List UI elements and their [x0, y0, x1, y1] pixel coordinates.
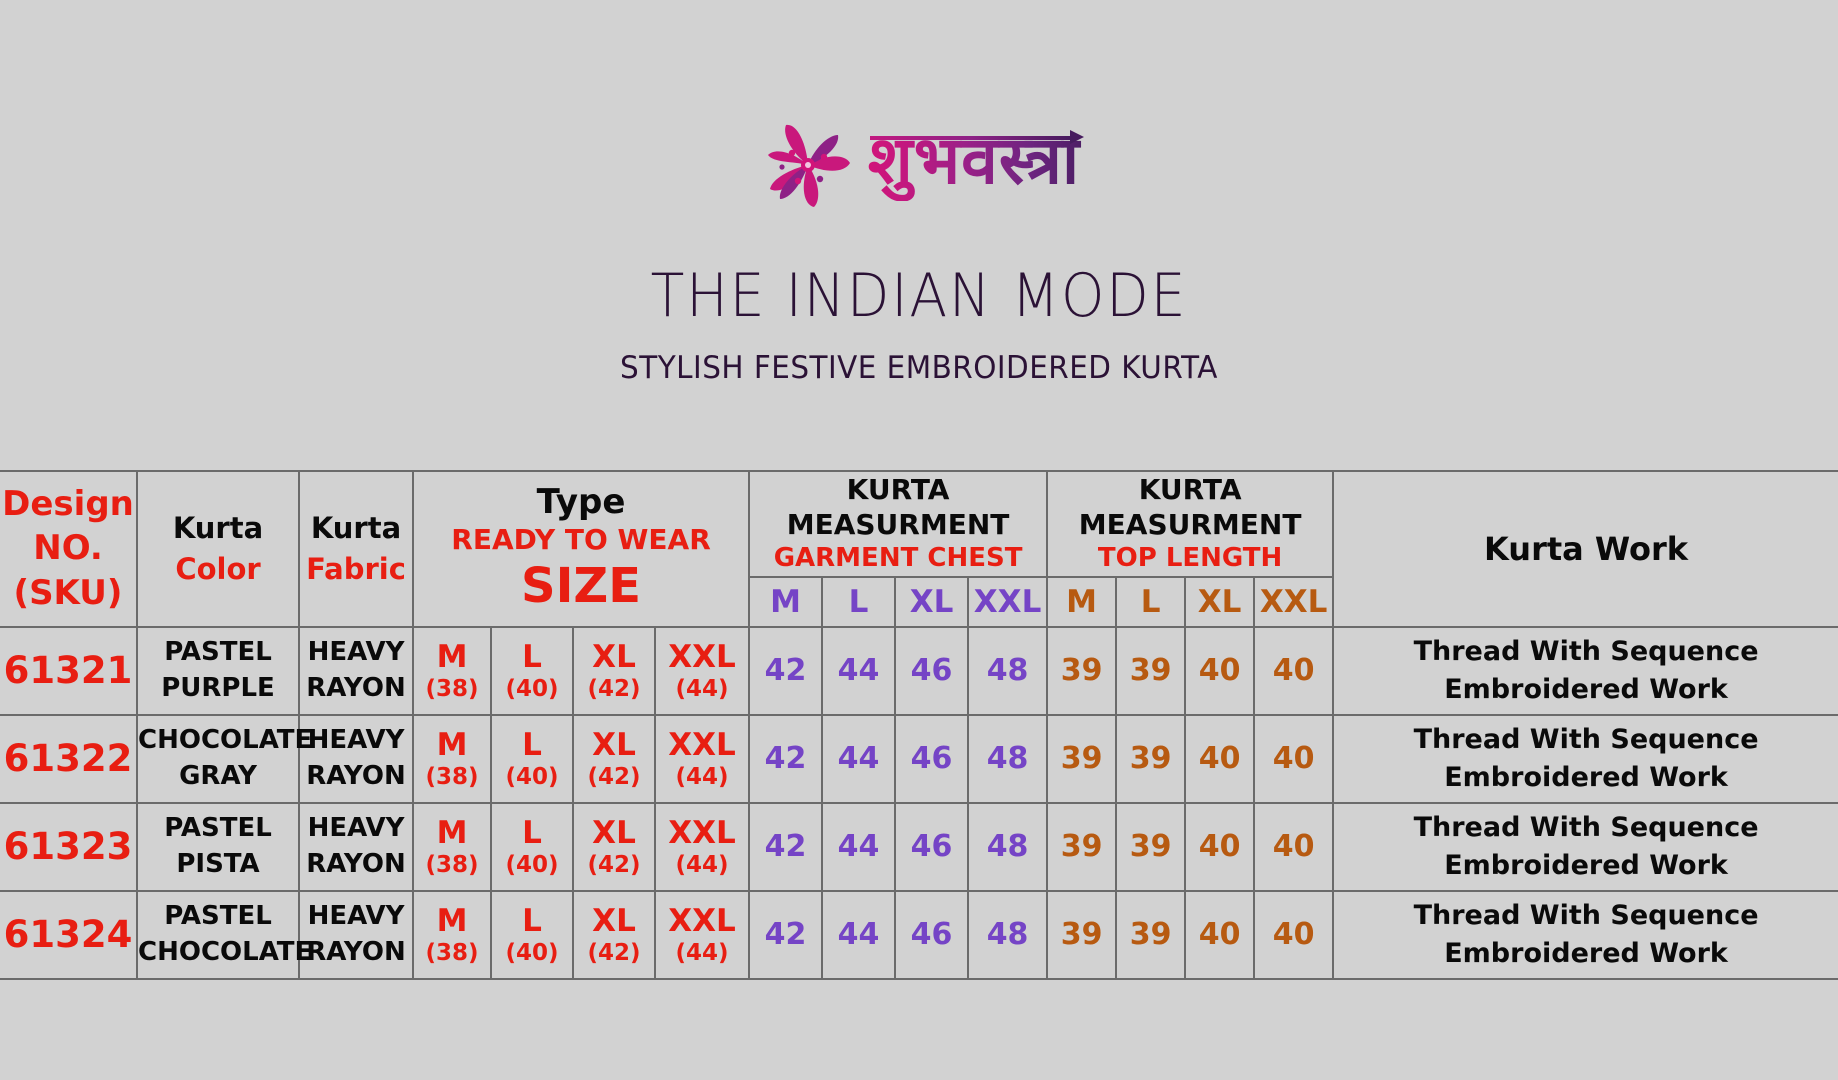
size-header-chest-l: L: [822, 577, 895, 627]
kurta-fabric-line1: Kurta: [300, 508, 412, 549]
cell-kurta-fabric: HEAVYRAYON: [299, 715, 413, 803]
color-line2: GRAY: [138, 759, 298, 795]
page-subtitle: STYLISH FESTIVE EMBROIDERED KURTA: [46, 350, 1792, 386]
col-header-kurta-fabric: Kurta Fabric: [299, 471, 413, 627]
brand-header: शुभवस्त्रा: [0, 0, 1838, 300]
table-row: 61321PASTELPURPLEHEAVYRAYONM(38)L(40)XL(…: [0, 627, 1838, 715]
size-number: (38): [414, 852, 490, 879]
size-label: M: [414, 903, 490, 940]
size-number: (44): [656, 764, 748, 791]
cell-chest-xxl: 48: [968, 891, 1047, 979]
size-number: (42): [574, 940, 654, 967]
cell-length-xl: 40: [1185, 891, 1254, 979]
cell-size-l: L(40): [491, 891, 573, 979]
size-number: (40): [492, 940, 572, 967]
cell-kurta-color: CHOCOLATEGRAY: [137, 715, 299, 803]
col-header-type: Type READY TO WEAR SIZE: [413, 471, 749, 627]
cell-size-l: L(40): [491, 803, 573, 891]
fabric-line2: RAYON: [300, 671, 412, 707]
color-line1: CHOCOLATE: [138, 723, 298, 759]
fabric-line2: RAYON: [300, 847, 412, 883]
table-header-row-main: Design NO. (SKU) Kurta Color Kurta Fabri…: [0, 471, 1838, 577]
cell-size-xxl: XXL(44): [655, 715, 749, 803]
size-label: XL: [574, 727, 654, 764]
cell-kurta-work: Thread With SequenceEmbroidered Work: [1333, 627, 1838, 715]
size-header-length-m: M: [1047, 577, 1116, 627]
cell-chest-xl: 46: [895, 803, 968, 891]
size-header-length-xxl: XXL: [1254, 577, 1333, 627]
cell-chest-m: 42: [749, 715, 822, 803]
cell-kurta-fabric: HEAVYRAYON: [299, 803, 413, 891]
cell-length-m: 39: [1047, 715, 1116, 803]
color-line2: CHOCOLATE: [138, 935, 298, 971]
cell-chest-l: 44: [822, 715, 895, 803]
cell-kurta-fabric: HEAVYRAYON: [299, 891, 413, 979]
cell-size-l: L(40): [491, 627, 573, 715]
cell-length-m: 39: [1047, 803, 1116, 891]
cell-chest-l: 44: [822, 891, 895, 979]
col-header-garment-chest: KURTA MEASURMENT GARMENT CHEST: [749, 471, 1047, 577]
cell-size-xl: XL(42): [573, 891, 655, 979]
size-label: XXL: [656, 639, 748, 676]
cell-size-xl: XL(42): [573, 627, 655, 715]
cell-length-xl: 40: [1185, 715, 1254, 803]
fabric-line1: HEAVY: [300, 635, 412, 671]
fabric-line2: RAYON: [300, 759, 412, 795]
size-label: L: [492, 815, 572, 852]
kurta-color-line1: Kurta: [138, 508, 298, 549]
size-label: XXL: [656, 815, 748, 852]
size-label: XL: [574, 815, 654, 852]
cell-sku: 61322: [0, 715, 137, 803]
cell-chest-xxl: 48: [968, 627, 1047, 715]
table-row: 61323PASTELPISTAHEAVYRAYONM(38)L(40)XL(4…: [0, 803, 1838, 891]
size-label: XL: [574, 639, 654, 676]
cell-chest-xl: 46: [895, 715, 968, 803]
size-header-length-xl: XL: [1185, 577, 1254, 627]
size-label: L: [492, 727, 572, 764]
cell-chest-xl: 46: [895, 891, 968, 979]
cell-size-xxl: XXL(44): [655, 627, 749, 715]
cell-kurta-fabric: HEAVYRAYON: [299, 627, 413, 715]
cell-chest-l: 44: [822, 803, 895, 891]
brand-logo-wordmark: शुभवस्त्रा: [866, 129, 1086, 201]
cell-length-l: 39: [1116, 715, 1185, 803]
cell-length-xxl: 40: [1254, 891, 1333, 979]
fabric-line1: HEAVY: [300, 899, 412, 935]
design-no-line1: Design: [0, 482, 136, 527]
table-row: 61322CHOCOLATEGRAYHEAVYRAYONM(38)L(40)XL…: [0, 715, 1838, 803]
col-header-top-length: KURTA MEASURMENT TOP LENGTH: [1047, 471, 1333, 577]
chest-line1: KURTA: [750, 472, 1046, 507]
cell-size-m: M(38): [413, 627, 491, 715]
cell-size-xxl: XXL(44): [655, 803, 749, 891]
cell-sku: 61324: [0, 891, 137, 979]
cell-kurta-color: PASTELCHOCOLATE: [137, 891, 299, 979]
length-line3: TOP LENGTH: [1048, 542, 1332, 576]
cell-length-xxl: 40: [1254, 803, 1333, 891]
size-label: XXL: [656, 727, 748, 764]
cell-size-m: M(38): [413, 803, 491, 891]
cell-size-xxl: XXL(44): [655, 891, 749, 979]
brand-logo: शुभवस्त्रा: [752, 119, 1086, 211]
cell-size-m: M(38): [413, 715, 491, 803]
type-line2: READY TO WEAR: [414, 521, 748, 559]
cell-length-m: 39: [1047, 891, 1116, 979]
size-number: (40): [492, 676, 572, 703]
size-number: (44): [656, 852, 748, 879]
type-line3: SIZE: [414, 559, 748, 614]
size-label: L: [492, 639, 572, 676]
col-header-design-no: Design NO. (SKU): [0, 471, 137, 627]
work-line1: Thread With Sequence: [1334, 633, 1838, 671]
title-block: THE INDIAN MODE STYLISH FESTIVE EMBROIDE…: [0, 266, 1838, 386]
cell-kurta-work: Thread With SequenceEmbroidered Work: [1333, 715, 1838, 803]
cell-size-xl: XL(42): [573, 715, 655, 803]
size-header-chest-m: M: [749, 577, 822, 627]
col-header-kurta-color: Kurta Color: [137, 471, 299, 627]
color-line1: PASTEL: [138, 811, 298, 847]
cell-length-l: 39: [1116, 627, 1185, 715]
cell-size-xl: XL(42): [573, 803, 655, 891]
size-label: M: [414, 815, 490, 852]
work-line1: Thread With Sequence: [1334, 897, 1838, 935]
size-header-length-l: L: [1116, 577, 1185, 627]
cell-kurta-work: Thread With SequenceEmbroidered Work: [1333, 803, 1838, 891]
fabric-line2: RAYON: [300, 935, 412, 971]
cell-sku: 61321: [0, 627, 137, 715]
size-number: (44): [656, 940, 748, 967]
size-number: (40): [492, 852, 572, 879]
size-number: (42): [574, 852, 654, 879]
cell-size-m: M(38): [413, 891, 491, 979]
color-line1: PASTEL: [138, 635, 298, 671]
cell-size-l: L(40): [491, 715, 573, 803]
size-label: L: [492, 903, 572, 940]
cell-length-xxl: 40: [1254, 715, 1333, 803]
size-label: XL: [574, 903, 654, 940]
fabric-line1: HEAVY: [300, 811, 412, 847]
table-body: 61321PASTELPURPLEHEAVYRAYONM(38)L(40)XL(…: [0, 627, 1838, 979]
size-header-chest-xl: XL: [895, 577, 968, 627]
cell-length-l: 39: [1116, 891, 1185, 979]
type-line1: Type: [414, 484, 748, 521]
cell-sku: 61323: [0, 803, 137, 891]
cell-chest-m: 42: [749, 803, 822, 891]
cell-chest-xl: 46: [895, 627, 968, 715]
size-label: M: [414, 727, 490, 764]
table-row: 61324PASTELCHOCOLATEHEAVYRAYONM(38)L(40)…: [0, 891, 1838, 979]
color-line2: PISTA: [138, 847, 298, 883]
work-line2: Embroidered Work: [1334, 671, 1838, 709]
cell-length-xxl: 40: [1254, 627, 1333, 715]
fabric-line1: HEAVY: [300, 723, 412, 759]
chest-line2: MEASURMENT: [750, 507, 1046, 542]
work-line1: Thread With Sequence: [1334, 721, 1838, 759]
cell-chest-xxl: 48: [968, 803, 1047, 891]
work-line1: Thread With Sequence: [1334, 809, 1838, 847]
length-line2: MEASURMENT: [1048, 507, 1332, 542]
design-no-line3: (SKU): [0, 571, 136, 616]
cell-length-xl: 40: [1185, 627, 1254, 715]
size-label: M: [414, 639, 490, 676]
color-line2: PURPLE: [138, 671, 298, 707]
kurta-fabric-line2: Fabric: [300, 549, 412, 590]
color-line1: PASTEL: [138, 899, 298, 935]
size-number: (42): [574, 676, 654, 703]
size-number: (38): [414, 940, 490, 967]
size-number: (42): [574, 764, 654, 791]
page-title: THE INDIAN MODE: [74, 266, 1765, 326]
work-line2: Embroidered Work: [1334, 759, 1838, 797]
size-header-chest-xxl: XXL: [968, 577, 1047, 627]
cell-length-m: 39: [1047, 627, 1116, 715]
cell-kurta-color: PASTELPURPLE: [137, 627, 299, 715]
col-header-kurta-work: Kurta Work: [1333, 471, 1838, 627]
cell-chest-xxl: 48: [968, 715, 1047, 803]
size-number: (44): [656, 676, 748, 703]
cell-length-l: 39: [1116, 803, 1185, 891]
cell-chest-l: 44: [822, 627, 895, 715]
size-label: XXL: [656, 903, 748, 940]
size-number: (38): [414, 676, 490, 703]
cell-kurta-work: Thread With SequenceEmbroidered Work: [1333, 891, 1838, 979]
work-line2: Embroidered Work: [1334, 935, 1838, 973]
length-line1: KURTA: [1048, 472, 1332, 507]
cell-kurta-color: PASTELPISTA: [137, 803, 299, 891]
design-no-line2: NO.: [0, 526, 136, 571]
cell-chest-m: 42: [749, 891, 822, 979]
cell-chest-m: 42: [749, 627, 822, 715]
cell-length-xl: 40: [1185, 803, 1254, 891]
floral-pinwheel-icon: [752, 119, 864, 211]
kurta-color-line2: Color: [138, 549, 298, 590]
chest-line3: GARMENT CHEST: [750, 542, 1046, 576]
kurta-spec-table: Design NO. (SKU) Kurta Color Kurta Fabri…: [0, 470, 1838, 980]
size-number: (38): [414, 764, 490, 791]
size-number: (40): [492, 764, 572, 791]
work-line2: Embroidered Work: [1334, 847, 1838, 885]
